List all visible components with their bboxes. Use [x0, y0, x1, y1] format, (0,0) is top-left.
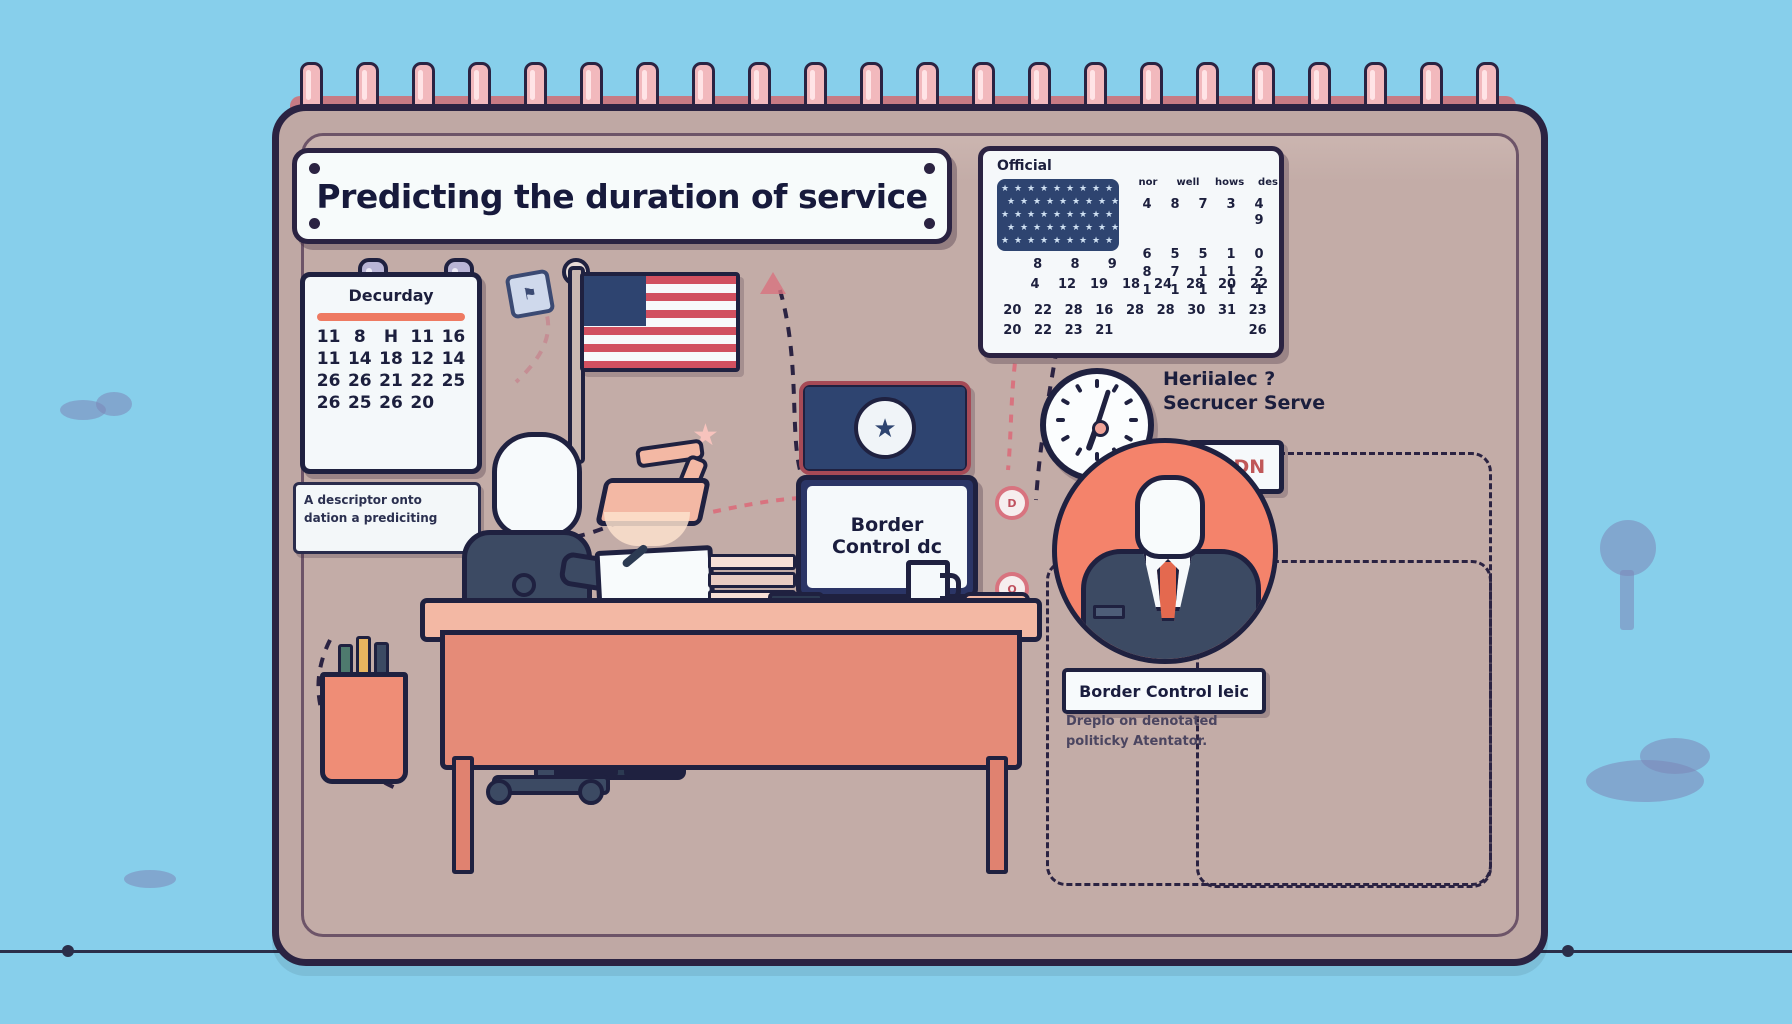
clock-tick [1124, 434, 1134, 442]
portrait-name-plate: Border Control leic [1062, 668, 1266, 714]
left-calendar-rule [317, 313, 465, 321]
node-label: D [1007, 497, 1016, 510]
table-cell: 22 [1028, 323, 1059, 338]
table-cell: 7 [1189, 197, 1217, 212]
official-row-1: 4 8 7 3 4 [1133, 197, 1273, 212]
flag-canton [584, 276, 646, 326]
table-cell: 0 [1245, 247, 1273, 262]
warning-triangle-icon [760, 272, 786, 294]
calendar-cell: 25 [438, 371, 469, 391]
table-cell: 20 [997, 303, 1028, 318]
horizon-dot-left [62, 945, 74, 957]
caption-line-1: Dreplo on denotated [1066, 712, 1266, 732]
table-cell: 31 [1212, 303, 1243, 318]
table-cell: 9 [1245, 213, 1273, 228]
official-row-3: 6 5 5 1 0 [1133, 247, 1273, 262]
left-calendar-header: Decurday [305, 286, 477, 305]
bg-bush-5 [1640, 738, 1710, 774]
calendar-cell: 26 [313, 371, 344, 391]
official-row-9: 20 22 23 21 26 [997, 323, 1273, 338]
horizon-dot-right [1562, 945, 1574, 957]
column-header: hows [1215, 177, 1241, 188]
screw-icon [309, 218, 320, 229]
table-cell: 16 [1089, 303, 1120, 318]
screw-icon [309, 163, 320, 174]
question-line-1: Heriialec ? [1163, 368, 1343, 392]
table-cell: 4 [1245, 197, 1273, 212]
left-calendar-grid: 11 8 H 11 16 11 14 18 12 14 26 26 21 22 … [305, 327, 477, 413]
table-cell: 5 [1189, 247, 1217, 262]
calendar-cell: 22 [407, 371, 438, 391]
tag-icon: ⚑ [505, 269, 556, 320]
table-cell: 4 [1019, 277, 1051, 292]
table-cell: 12 [1051, 277, 1083, 292]
connector-node-top[interactable]: D [995, 486, 1029, 520]
official-row-2: 9 [1133, 213, 1273, 228]
calendar-cell: 25 [344, 393, 375, 413]
person-head [492, 432, 582, 538]
clock-tick [1075, 447, 1083, 457]
table-cell: 8 [1056, 257, 1093, 272]
desk-leg-left [452, 756, 474, 874]
clock-tick [1056, 418, 1065, 422]
column-header: des [1255, 177, 1281, 188]
calendar-cell: 18 [375, 349, 406, 369]
table-cell: 22 [1243, 277, 1275, 292]
desk-leg-right [986, 756, 1008, 874]
chair-caster-left [486, 779, 512, 805]
official-row-8: 20 22 28 16 28 28 30 31 23 [997, 303, 1273, 318]
calendar-cell: 11 [407, 327, 438, 347]
clock-tick [1124, 398, 1134, 406]
table-cell: 30 [1181, 303, 1212, 318]
table-cell: 24 [1147, 277, 1179, 292]
screw-icon [924, 163, 935, 174]
table-cell: 5 [1161, 247, 1189, 262]
column-header: nor [1135, 177, 1161, 188]
official-panel-title: Official [997, 158, 1279, 174]
chair-button [512, 573, 536, 597]
calendar-cell: 21 [375, 371, 406, 391]
question-label: Heriialec ? Secrucer Serve [1163, 368, 1343, 416]
calendar-cell: 12 [407, 349, 438, 369]
calendar-cell: 26 [313, 393, 344, 413]
left-note-line-1: A descriptor onto [304, 491, 470, 509]
left-note-line-2: dation a prediciting [304, 509, 470, 527]
calendar-cell: 26 [375, 393, 406, 413]
question-line-2: Secrucer Serve [1163, 392, 1343, 416]
official-schedule-panel[interactable]: Official ★★★★★★★★★★★★★★★★★★★★★★★★★★★★★★★… [978, 146, 1284, 358]
official-row-7: 4 12 19 18 24 28 20 22 [1019, 277, 1275, 292]
bg-tree-trunk [1620, 570, 1634, 630]
clock-tick [1129, 418, 1138, 422]
calendar-cell [438, 393, 469, 413]
calendar-cell: 16 [438, 327, 469, 347]
portrait-pocket-square [1093, 605, 1125, 619]
calendar-cell: 14 [344, 349, 375, 369]
presidential-seal-icon: ★ [854, 397, 916, 459]
table-cell: 20 [997, 323, 1028, 338]
monitor-text-line-2: Control dc [832, 536, 942, 558]
page-title: Predicting the duration of service [316, 177, 927, 216]
clock-tick [1060, 434, 1070, 442]
calendar-cell: 8 [344, 327, 375, 347]
table-cell: 23 [1058, 323, 1089, 338]
table-cell: 6 [1133, 247, 1161, 262]
left-calendar[interactable]: Decurday 11 8 H 11 16 11 14 18 12 14 26 … [300, 272, 482, 474]
us-flag-icon [580, 272, 740, 372]
clock-tick [1060, 398, 1070, 406]
table-cell: 28 [1150, 303, 1181, 318]
screw-icon [924, 218, 935, 229]
table-cell: 22 [1028, 303, 1059, 318]
table-cell: 28 [1120, 303, 1151, 318]
calendar-cell: 11 [313, 349, 344, 369]
table-cell: 28 [1058, 303, 1089, 318]
portrait-head [1135, 475, 1205, 559]
name-plate-text: Border Control leic [1079, 682, 1249, 701]
chair-caster-right [578, 779, 604, 805]
portrait-caption: Dreplo on denotated politicky Atentator. [1066, 712, 1266, 751]
table-cell: 23 [1242, 303, 1273, 318]
poster-canvas: Predicting the duration of service Decur… [0, 0, 1792, 1024]
table-cell: 28 [1179, 277, 1211, 292]
table-cell: 20 [1211, 277, 1243, 292]
clock-tick [1075, 383, 1083, 393]
clock-tick [1111, 383, 1119, 393]
pencil-cup [320, 672, 408, 784]
table-cell: 9 [1094, 257, 1131, 272]
calendar-cell: H [375, 327, 406, 347]
column-header: well [1175, 177, 1201, 188]
table-cell: 21 [1089, 323, 1120, 338]
clock-center-pin [1092, 420, 1109, 437]
table-cell: 19 [1083, 277, 1115, 292]
desk-front-panel [440, 630, 1022, 770]
calendar-cell: 20 [407, 393, 438, 413]
official-row-6-left: 8 8 9 [1019, 257, 1131, 272]
bg-bush-2 [96, 392, 132, 416]
bg-bush-3 [124, 870, 176, 888]
table-cell: 3 [1217, 197, 1245, 212]
calendar-cell: 11 [313, 327, 344, 347]
table-cell: 1 [1217, 247, 1245, 262]
monitor-text-line-1: Border [851, 514, 924, 536]
table-cell: 26 [1242, 323, 1273, 338]
star-field-graphic: ★★★★★★★★★★★★★★★★★★★★★★★★★★★★★★★★★★★★★★★★… [997, 179, 1119, 251]
official-portrait [1052, 438, 1278, 664]
caption-line-2: politicky Atentator. [1066, 732, 1266, 752]
calendar-cell: 26 [344, 371, 375, 391]
table-cell: 4 [1133, 197, 1161, 212]
left-annotation-note: A descriptor onto dation a prediciting [293, 482, 481, 554]
table-cell: 8 [1019, 257, 1056, 272]
poster-title-plate: Predicting the duration of service [292, 148, 952, 244]
bg-tree-crown [1600, 520, 1656, 576]
table-cell: 18 [1115, 277, 1147, 292]
table-cell: 8 [1161, 197, 1189, 212]
official-panel-column-headers: nor well hows des more [1135, 177, 1284, 188]
clock-tick [1095, 379, 1099, 388]
presidential-seal-flag: ★ [800, 382, 970, 474]
calendar-cell: 14 [438, 349, 469, 369]
